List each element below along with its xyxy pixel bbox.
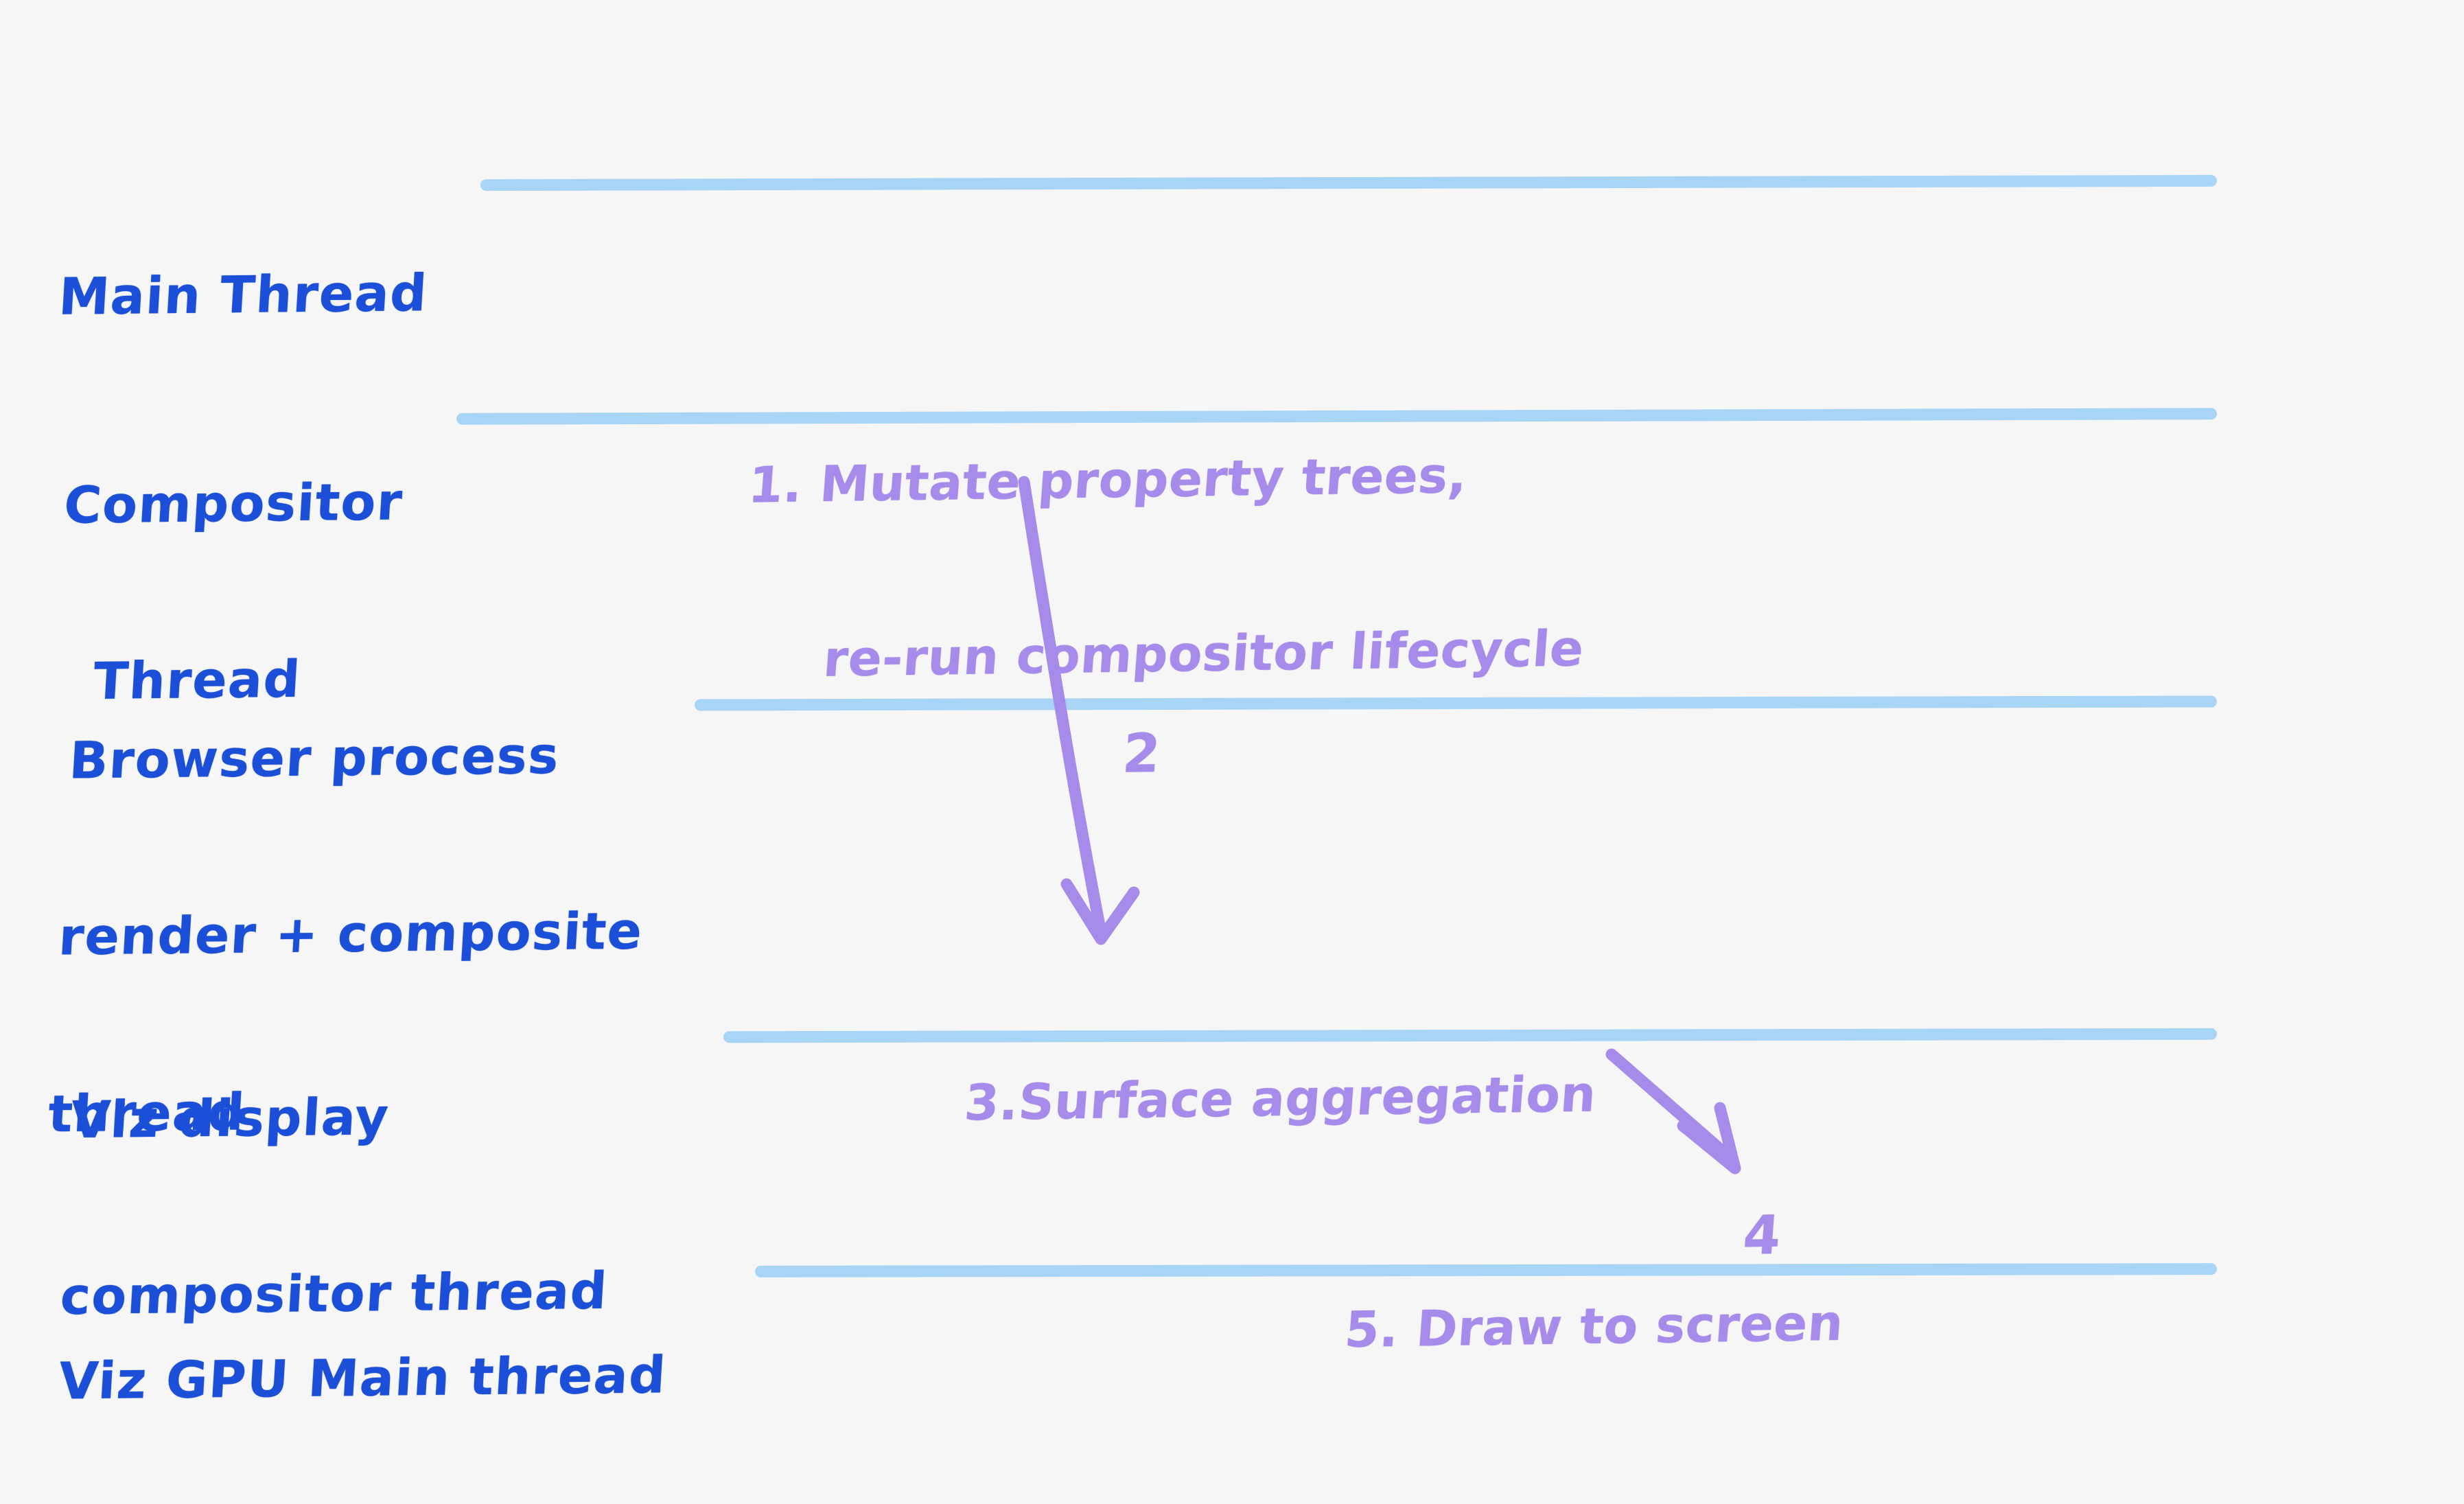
lane-label-viz-gpu-main-thread: Viz GPU Main thread <box>50 1228 675 1504</box>
annotation-step-5: 5. Draw to screen <box>1334 1177 1854 1476</box>
lane-label-line: Viz GPU Main thread <box>57 1346 668 1411</box>
lane-label-line: Main Thread <box>57 264 429 327</box>
annotation-line: 1. Mutate property trees, <box>747 444 1599 514</box>
lane-label-line: Browser process <box>67 726 655 791</box>
diagram-canvas: Main Thread Compositor Thread Browser pr… <box>0 0 2464 1504</box>
lifeline-main-thread <box>480 175 2217 191</box>
annotation-line: 3.Surface aggregation <box>962 1065 1598 1132</box>
lane-label-line: Compositor <box>62 473 405 535</box>
arrow-viz-to-gpu-icon <box>1612 1054 1735 1168</box>
lane-label-line: Viz display <box>69 1085 620 1150</box>
annotation-line: 2 <box>1121 721 1202 786</box>
annotation-line: 5. Draw to screen <box>1343 1294 1845 1359</box>
lane-label-line: render + composite <box>57 903 644 968</box>
